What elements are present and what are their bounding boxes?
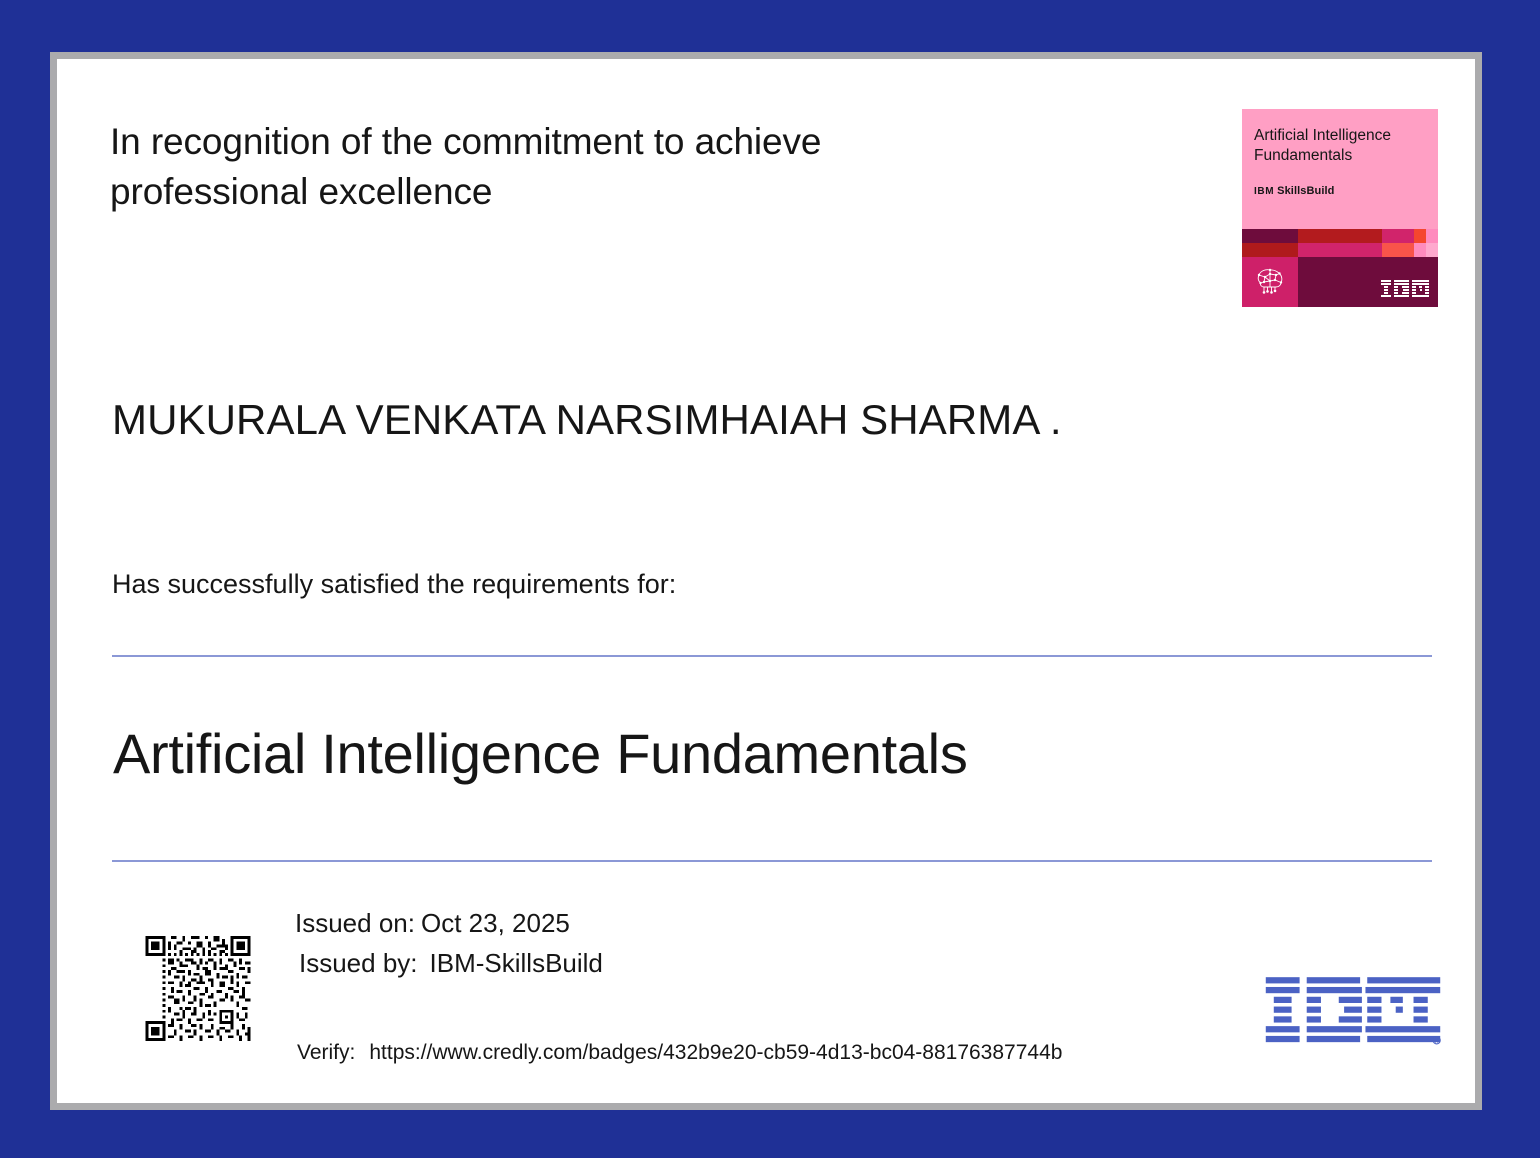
badge-band-segment: [1426, 229, 1438, 243]
divider-top: [112, 655, 1432, 657]
badge-band-segment: [1414, 229, 1426, 243]
course-title: Artificial Intelligence Fundamentals: [113, 721, 968, 786]
recipient-name: MUKURALA VENKATA NARSIMHAIAH SHARMA .: [112, 396, 1062, 444]
ai-brain-icon: [1253, 265, 1287, 299]
badge-brand-prefix: IBM: [1254, 186, 1274, 197]
badge-band-segment: [1382, 243, 1414, 257]
badge-color-band-1: [1242, 229, 1438, 243]
certificate-headline: In recognition of the commitment to achi…: [110, 117, 1010, 218]
badge-band-segment: [1298, 229, 1382, 243]
divider-bottom: [112, 860, 1432, 862]
certificate-card: In recognition of the commitment to achi…: [50, 52, 1482, 1110]
badge-title: Artificial Intelligence Fundamentals: [1254, 126, 1429, 166]
badge-color-band-2: [1242, 243, 1438, 257]
issue-details: Issued on:Oct 23, 2025 Issued by:IBM-Ski…: [295, 904, 603, 983]
badge-band-segment: [1242, 243, 1298, 257]
badge-ibm-wordmark-icon: [1381, 280, 1429, 298]
qr-code-icon[interactable]: [144, 936, 252, 1041]
badge-band-segment: [1242, 229, 1298, 243]
badge-band-segment: [1426, 243, 1438, 257]
badge-band-segment: [1298, 243, 1382, 257]
badge-footer-right: [1298, 257, 1438, 307]
verify-row: Verify:https://www.credly.com/badges/432…: [297, 1041, 1062, 1065]
issued-by-row: Issued by:IBM-SkillsBuild: [295, 944, 603, 984]
issued-by-label: Issued by:: [295, 944, 418, 984]
badge-brand-name: SkillsBuild: [1277, 185, 1334, 197]
badge-footer: [1242, 257, 1438, 307]
verify-url[interactable]: https://www.credly.com/badges/432b9e20-c…: [369, 1041, 1062, 1064]
badge-band-segment: [1382, 229, 1414, 243]
badge-brand: IBMSkillsBuild: [1254, 185, 1334, 197]
badge-band-segment: [1414, 243, 1426, 257]
issued-on-value: Oct 23, 2025: [421, 904, 570, 944]
verify-label: Verify:: [297, 1041, 355, 1064]
course-badge: Artificial Intelligence Fundamentals IBM…: [1242, 109, 1438, 307]
ibm-logo: R: [1264, 975, 1442, 1047]
issued-by-value: IBM-SkillsBuild: [430, 944, 603, 984]
requirements-line: Has successfully satisfied the requireme…: [112, 569, 676, 600]
badge-icon-tile: [1242, 257, 1298, 307]
issued-on-label: Issued on:: [295, 904, 415, 944]
svg-text:R: R: [1435, 1039, 1439, 1045]
issued-on-row: Issued on:Oct 23, 2025: [295, 904, 603, 944]
